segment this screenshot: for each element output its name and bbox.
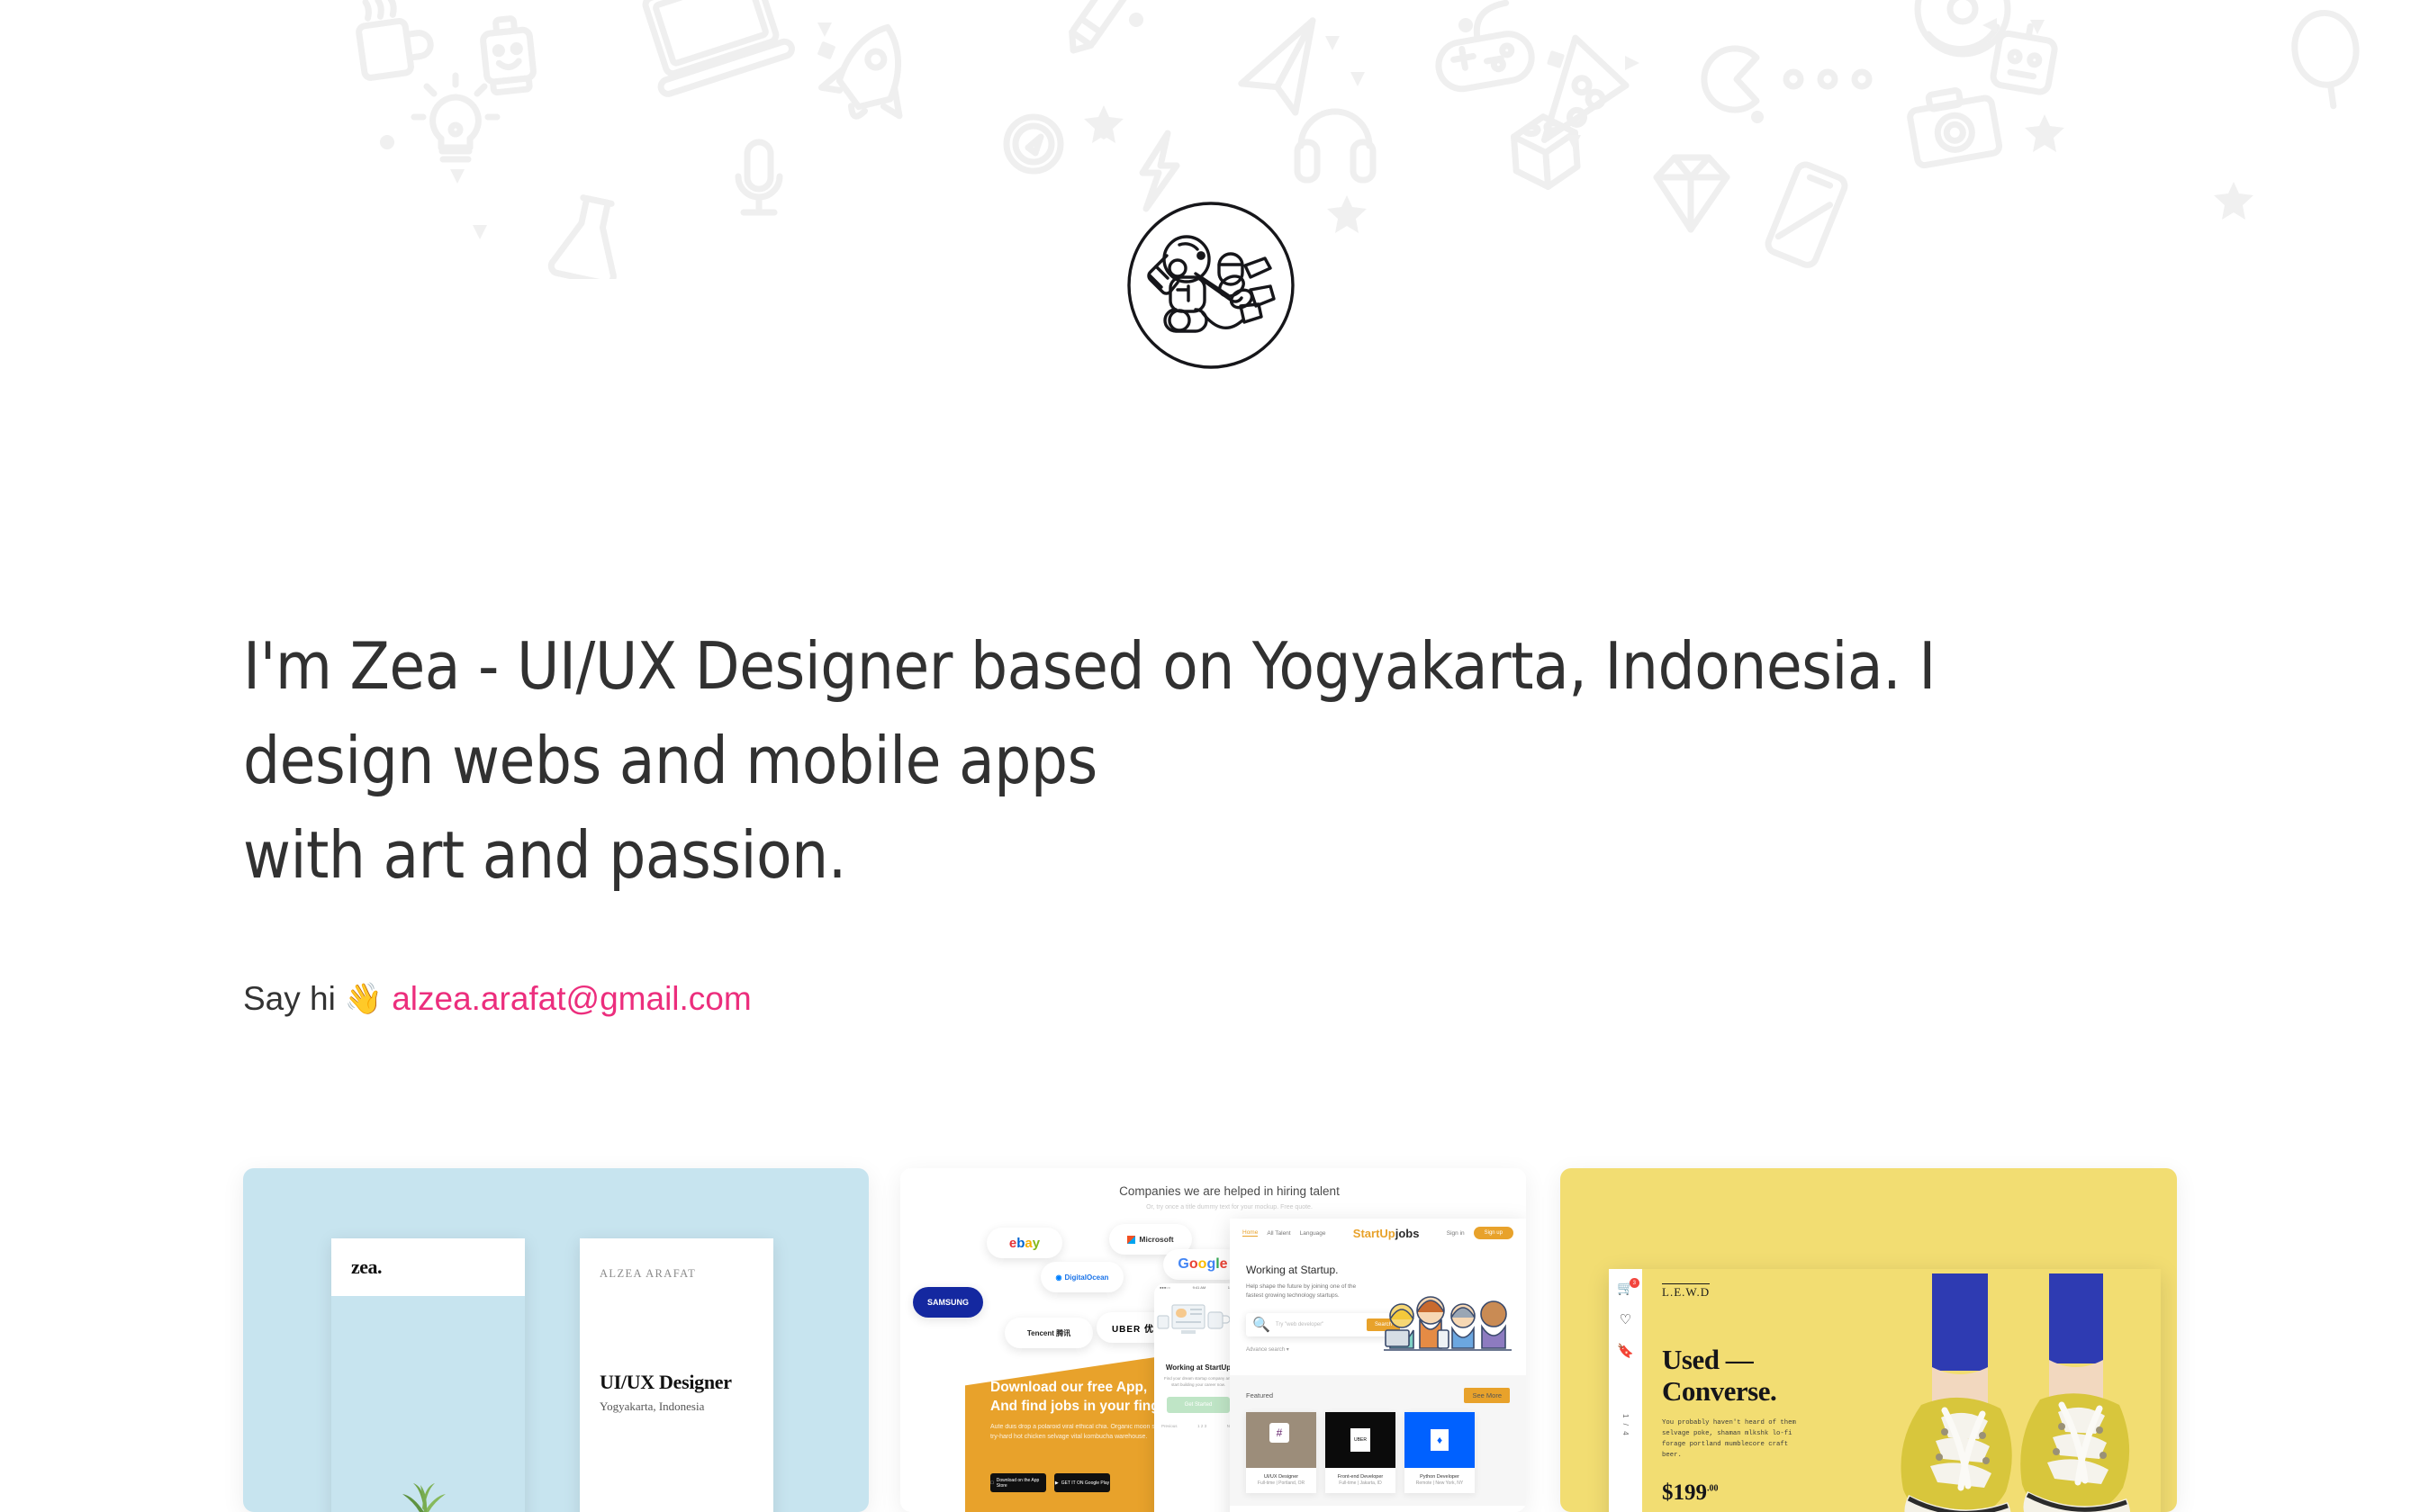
play-icon: ▶ xyxy=(1055,1480,1059,1486)
see-more-button[interactable]: See More xyxy=(1464,1388,1510,1403)
personal-branding-card[interactable]: zea. ALZEA ARAFAT UI/UX Designer Yogyaka… xyxy=(243,1168,869,1512)
portfolio-card-row: zea. ALZEA ARAFAT UI/UX Designer Yogyaka… xyxy=(0,1168,2420,1512)
lewd-ecommerce-card[interactable]: 🛒 3 ♡ 🔖 1 / 4 L.E.W.D Used — Converse. xyxy=(1560,1168,2177,1512)
nav-signin[interactable]: Sign in xyxy=(1447,1230,1465,1237)
say-hi-label: Say hi xyxy=(243,979,336,1019)
search-icon: 🔍 xyxy=(1252,1316,1270,1334)
price-cents: .00 xyxy=(1707,1484,1719,1494)
nav-signup-button[interactable]: Sign up xyxy=(1474,1227,1513,1239)
apple-icon:  xyxy=(990,1480,994,1486)
slide-pager: 1 / 4 xyxy=(1621,1414,1630,1437)
job-meta: Full-time | Jakarta, ID xyxy=(1325,1480,1395,1493)
phone-dots: 1 2 3 xyxy=(1197,1424,1206,1428)
job-tile-image: ♦ xyxy=(1404,1412,1475,1468)
sidebar-rail: 🛒 3 ♡ 🔖 1 / 4 xyxy=(1609,1269,1642,1512)
product-detail: L.E.W.D Used — Converse. You probably ha… xyxy=(1642,1269,2161,1512)
bookmark-icon[interactable]: 🔖 xyxy=(1617,1345,1634,1358)
zea-logo-text: zea. xyxy=(351,1255,382,1279)
contact-line: Say hi 👋 alzea.arafat@gmail.com xyxy=(243,979,752,1019)
astronaut-logo[interactable] xyxy=(1125,200,1296,371)
page-title: I'm Zea - UI/UX Designer based on Yogyak… xyxy=(243,619,2134,903)
heart-icon[interactable]: ♡ xyxy=(1620,1313,1631,1327)
shopping-basket-icon[interactable]: 🛒 3 xyxy=(1617,1282,1634,1295)
search-input[interactable]: Try "web developer" xyxy=(1276,1322,1361,1327)
branding-mockup-right: ALZEA ARAFAT UI/UX Designer Yogyakarta, … xyxy=(580,1238,773,1512)
price-amount: $199 xyxy=(1662,1480,1707,1505)
job-meta: Full-time | Portland, OR xyxy=(1246,1480,1316,1493)
advance-search-label: Advance search xyxy=(1246,1347,1285,1353)
job-title: UI/UX Designer xyxy=(1246,1468,1316,1480)
startupjobs-logo: StartUpjobs xyxy=(1353,1227,1420,1240)
featured-section: Featured See More # UI/UX Designer Full-… xyxy=(1230,1375,1526,1506)
dropbox-icon: ♦ xyxy=(1431,1429,1449,1451)
job-title: Front-end Developer xyxy=(1325,1468,1395,1480)
company-chip-tencent-label: Tencent 腾讯 xyxy=(1027,1328,1070,1338)
startupjobs-site-mockup: Home All Talent Language StartUpjobs Sig… xyxy=(1230,1219,1526,1512)
app-store-badge[interactable]:  Download on the App Store xyxy=(990,1473,1046,1492)
job-tile-image: # xyxy=(1246,1412,1316,1468)
portfolio-landing-page: I'm Zea - UI/UX Designer based on Yogyak… xyxy=(0,0,2420,1512)
app-store-label: Download on the App Store xyxy=(997,1478,1046,1489)
job-tile[interactable]: # UI/UX Designer Full-time | Portland, O… xyxy=(1246,1412,1316,1493)
waving-hand-icon: 👋 xyxy=(345,984,383,1014)
headline-line-2: design webs and mobile apps xyxy=(243,714,2134,808)
phone-carrier: ●●●○○ xyxy=(1160,1285,1170,1292)
product-title-line2: Converse. xyxy=(1662,1375,1776,1407)
nav-language[interactable]: Language xyxy=(1300,1230,1326,1237)
product-title-line1: Used — xyxy=(1662,1344,1753,1375)
featured-job-tiles: # UI/UX Designer Full-time | Portland, O… xyxy=(1246,1412,1510,1493)
hero-sub: Help shape the future by joining one of … xyxy=(1246,1282,1372,1300)
job-tile-image: UBER xyxy=(1325,1412,1395,1468)
job-tile[interactable]: UBER Front-end Developer Full-time | Jak… xyxy=(1325,1412,1395,1493)
lewd-product-page-mockup: 🛒 3 ♡ 🔖 1 / 4 L.E.W.D Used — Converse. xyxy=(1609,1269,2161,1512)
headline-line-3: with art and passion. xyxy=(243,808,2134,903)
featured-label: Featured xyxy=(1246,1391,1273,1399)
site-hero: Working at Startup. Help shape the futur… xyxy=(1230,1247,1526,1375)
store-badges:  Download on the App Store ▶ GET IT ON … xyxy=(990,1473,1110,1492)
designer-location: Yogyakarta, Indonesia xyxy=(600,1399,754,1414)
designer-role: UI/UX Designer xyxy=(600,1371,754,1394)
google-play-label: GET IT ON Google Play xyxy=(1061,1480,1109,1486)
company-chip-tencent: Tencent 腾讯 xyxy=(1005,1318,1093,1348)
slide-pager-label: 1 / 4 xyxy=(1621,1414,1630,1437)
company-chip-digitalocean: ◉DigitalOcean xyxy=(1041,1262,1124,1292)
phone-prev[interactable]: Previous xyxy=(1161,1424,1178,1428)
phone-time: 9:41 AM xyxy=(1193,1285,1206,1292)
job-meta: Remote | New York, NY xyxy=(1404,1480,1475,1493)
phone-get-started-button[interactable]: Get Started xyxy=(1167,1397,1230,1413)
slack-icon: # xyxy=(1269,1423,1289,1443)
nav-home[interactable]: Home xyxy=(1242,1229,1258,1237)
email-link[interactable]: alzea.arafat@gmail.com xyxy=(392,979,752,1019)
team-illustration xyxy=(1380,1283,1515,1361)
companies-section-sub: Or, try once a title dummy text for your… xyxy=(933,1204,1526,1210)
job-tile[interactable]: ♦ Python Developer Remote | New York, NY xyxy=(1404,1412,1475,1493)
latest-jobs-section: Latest Jobs Popular jobs ▾ xyxy=(1230,1506,1526,1512)
hero-title: Working at Startup. xyxy=(1246,1264,1510,1276)
branding-logo-panel: zea. xyxy=(331,1238,525,1296)
company-chip-microsoft-label: Microsoft xyxy=(1139,1235,1173,1244)
company-chip-samsung: SAMSUNG xyxy=(913,1287,983,1318)
converse-shoes-photo xyxy=(1882,1269,2152,1512)
headline-line-1: I'm Zea - UI/UX Designer based on Yogyak… xyxy=(243,619,2134,714)
plant-photo xyxy=(384,1471,465,1512)
company-chip-digitalocean-label: DigitalOcean xyxy=(1065,1273,1109,1282)
site-nav: Home All Talent Language StartUpjobs Sig… xyxy=(1230,1219,1526,1247)
startupjobs-card[interactable]: Companies we are helped in hiring talent… xyxy=(900,1168,1526,1512)
nav-all-talent[interactable]: All Talent xyxy=(1267,1230,1290,1237)
product-description: You probably haven't heard of them selva… xyxy=(1662,1417,1797,1461)
company-chip-samsung-label: SAMSUNG xyxy=(927,1298,969,1307)
uber-icon: UBER xyxy=(1350,1428,1370,1452)
companies-section-title: Companies we are helped in hiring talent xyxy=(933,1184,1526,1198)
branding-mockup-left: zea. xyxy=(331,1238,525,1512)
startupjobs-landing-mockup: Companies we are helped in hiring talent… xyxy=(933,1168,1526,1512)
designer-name: ALZEA ARAFAT xyxy=(600,1267,754,1281)
company-chip-ebay: ebay xyxy=(987,1228,1062,1258)
cart-count-badge: 3 xyxy=(1630,1278,1639,1288)
google-play-badge[interactable]: ▶ GET IT ON Google Play xyxy=(1054,1473,1110,1492)
lewd-brand-logo: L.E.W.D xyxy=(1662,1283,1710,1300)
job-title: Python Developer xyxy=(1404,1468,1475,1480)
